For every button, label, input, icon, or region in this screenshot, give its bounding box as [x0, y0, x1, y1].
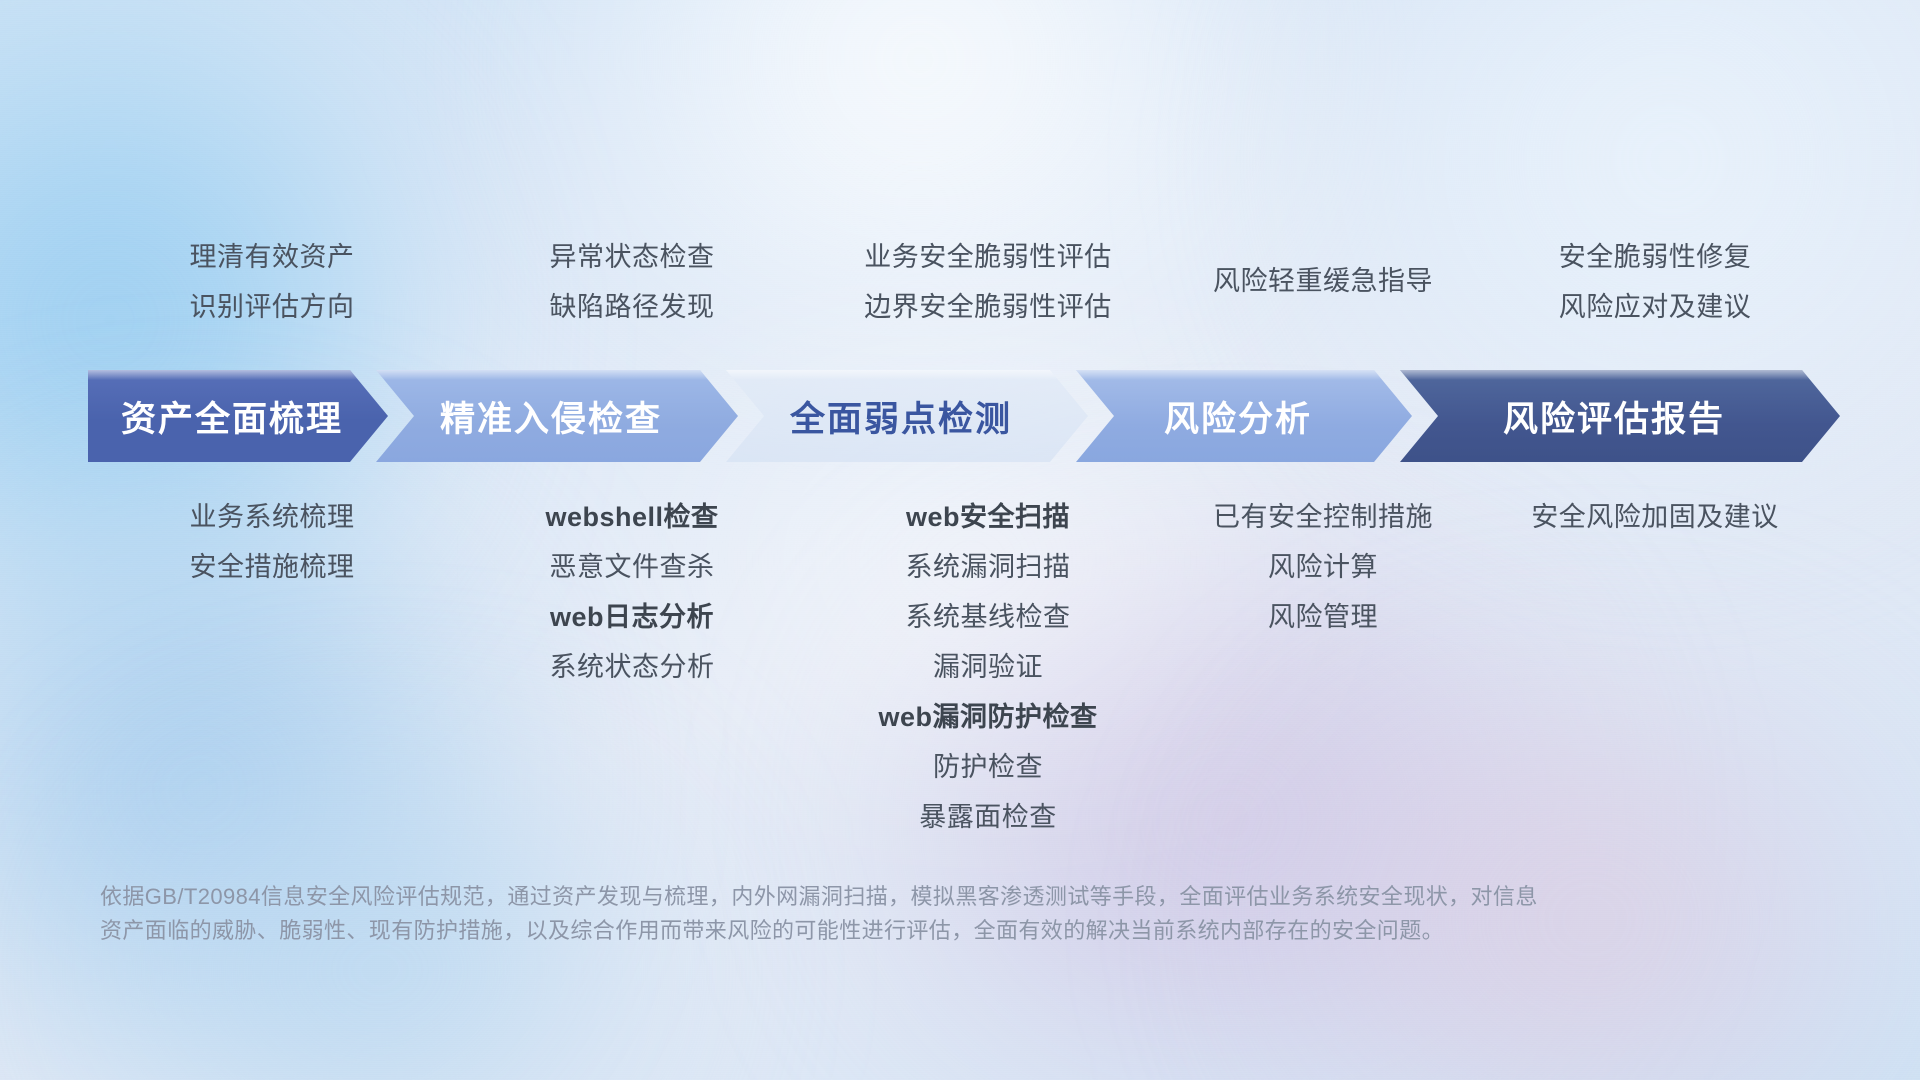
chevron-stage-5[interactable]: 风险评估报告 [1400, 370, 1840, 462]
top-annotation-item: 理清有效资产 [88, 232, 456, 282]
chevron-highlight [1076, 370, 1412, 380]
top-annotation-item: 识别评估方向 [88, 282, 456, 332]
chevron-stage-2[interactable]: 精准入侵检查 [376, 370, 738, 462]
chevron-label: 资产全面梳理 [121, 391, 343, 442]
top-annotation-item: 业务安全脆弱性评估 [808, 232, 1168, 282]
slide-content: 理清有效资产 识别评估方向 异常状态检查 缺陷路径发现 业务安全脆弱性评估 边界… [0, 0, 1920, 1080]
bottom-annotations-stage-1: 业务系统梳理 安全措施梳理 [88, 492, 456, 842]
process-chevron-band: 资产全面梳理 精准入侵检查 全面弱点检测 风险分析 风险评估报告 [88, 370, 1840, 462]
footer-caption-line-1: 依据GB/T20984信息安全风险评估规范，通过资产发现与梳理，内外网漏洞扫描，… [100, 880, 1640, 914]
chevron-label: 风险评估报告 [1503, 391, 1725, 442]
footer-caption: 依据GB/T20984信息安全风险评估规范，通过资产发现与梳理，内外网漏洞扫描，… [100, 880, 1640, 948]
chevron-label: 全面弱点检测 [790, 391, 1012, 442]
bottom-annotation-item: webshell检查 [545, 502, 718, 532]
bottom-annotation-item: 业务系统梳理 [88, 492, 456, 542]
top-annotations-stage-2: 异常状态检查 缺陷路径发现 [456, 232, 808, 332]
bottom-annotation-item: 已有安全控制措施 [1168, 492, 1478, 542]
bottom-annotation-item: 风险计算 [1168, 542, 1478, 592]
bottom-annotations-stage-4: 已有安全控制措施 风险计算 风险管理 [1168, 492, 1478, 842]
bottom-annotation-item: 漏洞验证 [808, 642, 1168, 692]
bottom-annotation-item: web漏洞防护检查 [878, 702, 1097, 732]
bottom-annotation-item: 系统漏洞扫描 [808, 542, 1168, 592]
bottom-annotation-item: 防护检查 [808, 742, 1168, 792]
top-annotation-item: 异常状态检查 [456, 232, 808, 282]
bottom-annotation-item: 安全措施梳理 [88, 542, 456, 592]
bottom-annotations-row: 业务系统梳理 安全措施梳理 webshell检查 恶意文件查杀 web日志分析 … [88, 492, 1832, 842]
bottom-annotations-stage-3: web安全扫描 系统漏洞扫描 系统基线检查 漏洞验证 web漏洞防护检查 防护检… [808, 492, 1168, 842]
bottom-annotation-item: 系统基线检查 [808, 592, 1168, 642]
top-annotations-stage-5: 安全脆弱性修复 风险应对及建议 [1478, 232, 1832, 332]
top-annotation-item: 安全脆弱性修复 [1478, 232, 1832, 282]
chevron-label: 风险分析 [1164, 391, 1312, 442]
chevron-label: 精准入侵检查 [440, 391, 662, 442]
top-annotation-item: 风险应对及建议 [1478, 282, 1832, 332]
chevron-highlight [726, 370, 1088, 380]
top-annotations-stage-1: 理清有效资产 识别评估方向 [88, 232, 456, 332]
bottom-annotation-item: 风险管理 [1168, 592, 1478, 642]
bottom-annotation-item: web日志分析 [550, 602, 714, 632]
bottom-annotation-item: 暴露面检查 [808, 792, 1168, 842]
bottom-annotation-item: web安全扫描 [906, 502, 1070, 532]
top-annotations-stage-4: 风险轻重缓急指导 [1168, 232, 1478, 332]
chevron-stage-3[interactable]: 全面弱点检测 [726, 370, 1088, 462]
top-annotation-item: 缺陷路径发现 [456, 282, 808, 332]
chevron-stage-1[interactable]: 资产全面梳理 [88, 370, 388, 462]
chevron-highlight [88, 370, 388, 380]
chevron-highlight [376, 370, 738, 380]
top-annotations-row: 理清有效资产 识别评估方向 异常状态检查 缺陷路径发现 业务安全脆弱性评估 边界… [88, 232, 1832, 332]
bottom-annotation-item: 安全风险加固及建议 [1478, 492, 1832, 542]
top-annotation-item: 风险轻重缓急指导 [1168, 256, 1478, 306]
chevron-stage-4[interactable]: 风险分析 [1076, 370, 1412, 462]
top-annotations-stage-3: 业务安全脆弱性评估 边界安全脆弱性评估 [808, 232, 1168, 332]
slide-canvas: 理清有效资产 识别评估方向 异常状态检查 缺陷路径发现 业务安全脆弱性评估 边界… [0, 0, 1920, 1080]
top-annotation-item: 边界安全脆弱性评估 [808, 282, 1168, 332]
bottom-annotations-stage-2: webshell检查 恶意文件查杀 web日志分析 系统状态分析 [456, 492, 808, 842]
footer-caption-line-2: 资产面临的威胁、脆弱性、现有防护措施，以及综合作用而带来风险的可能性进行评估，全… [100, 914, 1640, 948]
chevron-highlight [1400, 370, 1840, 380]
bottom-annotations-stage-5: 安全风险加固及建议 [1478, 492, 1832, 842]
bottom-annotation-item: 恶意文件查杀 [456, 542, 808, 592]
bottom-annotation-item: 系统状态分析 [456, 642, 808, 692]
